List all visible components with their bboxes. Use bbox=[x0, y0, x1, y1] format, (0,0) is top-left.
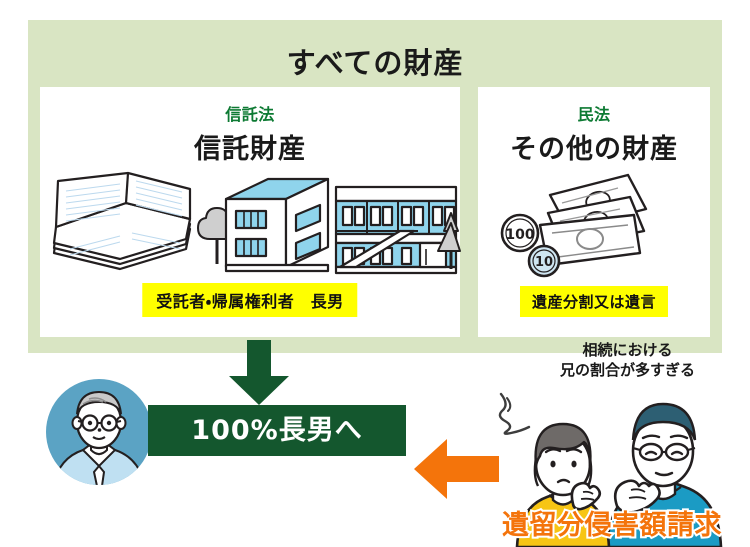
claim-label: 遺留分侵害額請求 bbox=[474, 503, 750, 542]
complaint-line-2: 兄の割合が多すぎる bbox=[520, 361, 735, 381]
result-banner: 100%長男へ bbox=[148, 405, 406, 456]
complaint-text: 相続における 兄の割合が多すぎる bbox=[520, 341, 735, 381]
result-banner-label: 100%長男へ bbox=[191, 417, 362, 444]
coin-100-value: 100 bbox=[505, 227, 534, 243]
apartment-icon bbox=[336, 187, 456, 273]
eldest-son-avatar bbox=[45, 378, 153, 486]
coin-10-value: 10 bbox=[535, 255, 553, 270]
all-assets-container: すべての財産 信託法 信託財産 bbox=[28, 20, 722, 353]
panel-heading-trust: 信託財産 bbox=[40, 127, 460, 166]
coin-10-icon: 10 bbox=[529, 246, 559, 276]
arrow-down-icon bbox=[228, 340, 290, 406]
panel-heading-other: その他の財産 bbox=[478, 127, 710, 166]
panel-trust-property: 信託法 信託財産 bbox=[40, 87, 460, 337]
panel-law-label-trust: 信託法 bbox=[40, 101, 460, 125]
trust-property-illustrations bbox=[40, 169, 460, 279]
page-title: すべての財産 bbox=[28, 40, 722, 82]
panel-other-property: 民法 その他の財産 bbox=[478, 87, 710, 337]
other-property-illustrations: 100 10 bbox=[478, 169, 710, 279]
trust-property-tag: 受託者・帰属権利者 長男 bbox=[142, 283, 357, 317]
panel-law-label-other: 民法 bbox=[478, 101, 710, 125]
other-property-tag: 遺産分割又は遺言 bbox=[520, 286, 668, 317]
passbook-icon bbox=[54, 173, 190, 269]
coin-100-icon: 100 bbox=[502, 215, 538, 251]
diagram-canvas: すべての財産 信託法 信託財産 bbox=[0, 0, 750, 547]
arrow-left-icon bbox=[413, 438, 499, 500]
house-icon bbox=[226, 179, 328, 271]
complaint-line-1: 相続における bbox=[520, 341, 735, 361]
